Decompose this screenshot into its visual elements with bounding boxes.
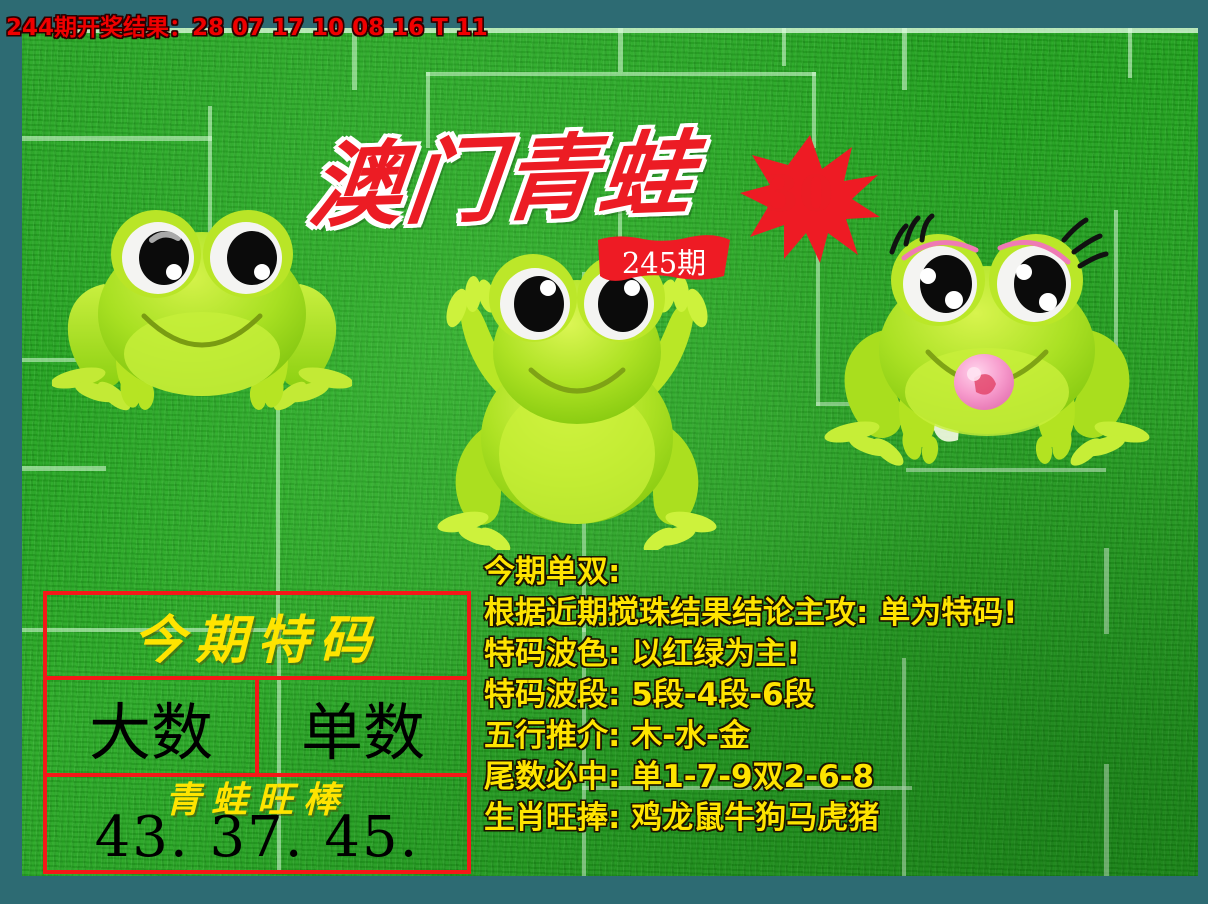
info-line: 五行推介: 木-水-金 bbox=[484, 716, 1184, 757]
poster-canvas: 澳门青蛙 30 245期 今期特码 大数 单数 青蛙旺棒 43. 37. 45.… bbox=[22, 28, 1198, 876]
info-line: 尾数必中: 单1-7-9双2-6-8 bbox=[484, 757, 1184, 798]
table-cell-parity-label: 单数 bbox=[301, 682, 425, 772]
info-line: 特码波段: 5段-4段-6段 bbox=[484, 675, 1184, 716]
prediction-info-block: 今期单双: 根据近期搅珠结果结论主攻: 单为特码! 特码波色: 以红绿为主! 特… bbox=[484, 552, 1184, 839]
draw-result-line: 244期开奖结果：28 07 17 10 08 16 T 11 bbox=[6, 8, 488, 42]
table-numbers-row: 青蛙旺棒 43. 37. 45. 39. 33. 41 bbox=[47, 777, 467, 870]
burst-number: 30 bbox=[764, 164, 834, 223]
table-cell-size: 大数 bbox=[47, 680, 259, 773]
table-cell-size-label: 大数 bbox=[89, 682, 213, 772]
frog-center bbox=[427, 250, 727, 550]
special-code-table: 今期特码 大数 单数 青蛙旺棒 43. 37. 45. 39. 33. 41 bbox=[43, 591, 471, 874]
page-title: 澳门青蛙 bbox=[304, 99, 704, 245]
table-numbers: 43. 37. 45. 39. 33. 41 bbox=[47, 805, 467, 876]
table-title-row: 今期特码 bbox=[47, 595, 467, 680]
issue-badge-label: 245期 bbox=[594, 240, 734, 282]
info-line: 今期单双: bbox=[484, 552, 1184, 593]
table-cell-parity: 单数 bbox=[259, 680, 467, 773]
info-line: 根据近期搅珠结果结论主攻: 单为特码! bbox=[484, 593, 1184, 634]
table-title: 今期特码 bbox=[133, 598, 381, 673]
table-value-row: 大数 单数 bbox=[47, 680, 467, 777]
info-line: 生肖旺捧: 鸡龙鼠牛狗马虎猪 bbox=[484, 798, 1184, 839]
info-line: 特码波色: 以红绿为主! bbox=[484, 634, 1184, 675]
